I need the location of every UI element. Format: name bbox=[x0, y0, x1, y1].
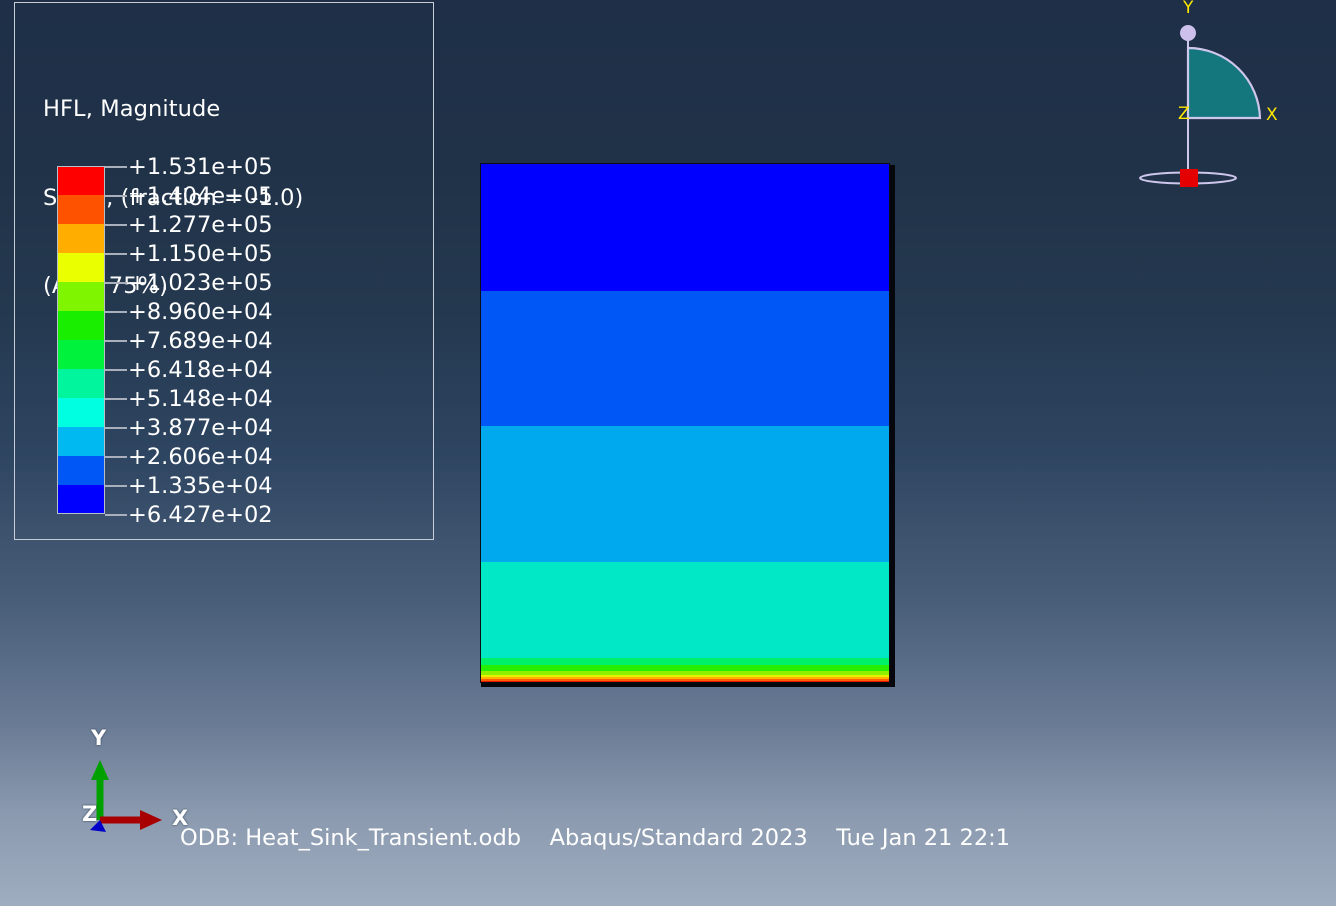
view-cube-label-x: X bbox=[1266, 105, 1278, 125]
legend-value: +7.689e+04 bbox=[128, 327, 273, 356]
legend-swatch bbox=[57, 485, 105, 514]
legend-value: +1.150e+05 bbox=[128, 240, 273, 269]
contour-band bbox=[481, 562, 889, 658]
legend-value: +3.877e+04 bbox=[128, 414, 273, 443]
legend-tick bbox=[105, 311, 127, 313]
square-handle-icon bbox=[1180, 169, 1198, 187]
legend-tick bbox=[105, 166, 127, 168]
triad-label-y: Y bbox=[91, 726, 106, 750]
sphere-handle-icon bbox=[1180, 25, 1196, 41]
legend-tick bbox=[105, 340, 127, 342]
legend-value: +1.335e+04 bbox=[128, 472, 273, 501]
legend-tick bbox=[105, 195, 127, 197]
legend-variable: HFL, Magnitude bbox=[43, 95, 303, 125]
status-block: ODB: Heat_Sink_Transient.odb Abaqus/Stan… bbox=[180, 757, 1336, 906]
legend-value: +1.277e+05 bbox=[128, 211, 273, 240]
view-cube-svg bbox=[1135, 0, 1335, 200]
view-cube-label-y: Y bbox=[1183, 0, 1193, 18]
legend-swatch bbox=[57, 195, 105, 224]
legend-swatch bbox=[57, 253, 105, 282]
triad-label-z: Z bbox=[82, 802, 97, 826]
legend-swatch bbox=[57, 224, 105, 253]
legend-swatch bbox=[57, 311, 105, 340]
legend-value: +1.404e+05 bbox=[128, 182, 273, 211]
contour-legend[interactable]: HFL, Magnitude SNEG, (fraction = -1.0) (… bbox=[14, 2, 434, 540]
legend-value: +6.427e+02 bbox=[128, 501, 273, 530]
quarter-disc-icon bbox=[1188, 48, 1260, 118]
legend-tick bbox=[105, 514, 127, 516]
legend-swatch bbox=[57, 369, 105, 398]
legend-tick bbox=[105, 485, 127, 487]
abaqus-viewport[interactable]: HFL, Magnitude SNEG, (fraction = -1.0) (… bbox=[0, 0, 1336, 906]
legend-swatch bbox=[57, 456, 105, 485]
contour-band bbox=[481, 426, 889, 563]
legend-tick bbox=[105, 427, 127, 429]
contour-band bbox=[481, 681, 889, 683]
legend-value: +1.531e+05 bbox=[128, 153, 273, 182]
status-odb-line: ODB: Heat_Sink_Transient.odb Abaqus/Stan… bbox=[180, 822, 1336, 855]
legend-value: +6.418e+04 bbox=[128, 356, 273, 385]
legend-swatch bbox=[57, 427, 105, 456]
view-cube-label-z: Z bbox=[1178, 104, 1190, 124]
legend-tick bbox=[105, 224, 127, 226]
legend-value: +8.960e+04 bbox=[128, 298, 273, 327]
legend-swatch bbox=[57, 398, 105, 427]
model-faces[interactable] bbox=[480, 163, 890, 683]
legend-tick bbox=[105, 398, 127, 400]
legend-tick bbox=[105, 456, 127, 458]
view-orientation-triad[interactable]: Y Z X bbox=[1135, 0, 1335, 200]
legend-value: +1.023e+05 bbox=[128, 269, 273, 298]
legend-tick bbox=[105, 369, 127, 371]
contour-band bbox=[481, 291, 889, 426]
legend-values: +1.531e+05+1.404e+05+1.277e+05+1.150e+05… bbox=[128, 153, 273, 530]
contour-model[interactable] bbox=[478, 162, 892, 684]
legend-swatch bbox=[57, 340, 105, 369]
legend-swatch bbox=[57, 282, 105, 311]
legend-tick bbox=[105, 253, 127, 255]
legend-value: +2.606e+04 bbox=[128, 443, 273, 472]
legend-value: +5.148e+04 bbox=[128, 385, 273, 414]
legend-swatch bbox=[57, 166, 105, 195]
legend-tick bbox=[105, 282, 127, 284]
contour-band bbox=[481, 164, 889, 292]
legend-color-swatches bbox=[57, 166, 105, 514]
